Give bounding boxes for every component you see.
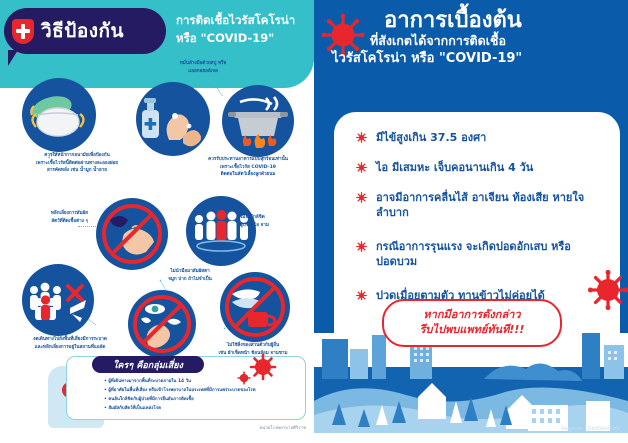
caption-line: งดเดินทางไปยังพื้นที่เสี่ยงมีการระบาด bbox=[0, 336, 140, 344]
badge-tail bbox=[8, 50, 18, 66]
caption-no-travel: งดเดินทางไปยังพื้นที่เสี่ยงมีการระบาด แล… bbox=[0, 336, 140, 351]
icon-circle-no-touch-animal bbox=[96, 198, 168, 270]
coronavirus-decor-icon bbox=[236, 370, 252, 386]
symptom-item: อาจมีอาการคลื่นไส้ อาเจียน ท้องเสีย หายใ… bbox=[356, 190, 606, 221]
warning-line2: รีบไปพบแพทย์ทันที!!! bbox=[420, 323, 525, 338]
prevention-panel: วิธีป้องกัน การติดเชื้อไวรัสโคโรน่า หรือ… bbox=[0, 0, 314, 443]
symptoms-header-line1: อาการเบื้องต้น bbox=[332, 8, 628, 33]
caption-line: เพราะเชื้อไวรัส COVID-19 bbox=[182, 164, 314, 172]
warning-box: หากมีอาการดังกล่าว รีบไปพบแพทย์ทันที!!! bbox=[382, 299, 562, 347]
virus-bullet-icon bbox=[356, 241, 367, 252]
caption-line: ติดต่อในสัตว์เลี้ยงลูกด้วยนม bbox=[182, 171, 314, 179]
caption-line: สารคัดหลั่ง เช่น น้ำมูก น้ำลาย bbox=[2, 167, 152, 175]
caption-line: สัตว์ที่ติดเชื้อต่าง ๆ bbox=[4, 218, 88, 226]
caption-line: ไม่ใช้สิ่งของส่วนตัวกับผู้อื่น bbox=[192, 342, 314, 350]
hand-wash-soap-icon bbox=[136, 82, 210, 156]
symptom-label: อาจมีอาการคลื่นไส้ อาเจียน ท้องเสีย หายใ… bbox=[376, 190, 606, 221]
caption-cooking-pot: ควรรับประทานอาหารแบบสุกร้อนเท่านั้น เพรา… bbox=[182, 156, 314, 179]
virus-bullet-icon bbox=[356, 162, 367, 173]
symptom-item: กรณีอาการรุนแรง จะเกิดปอดอักเสบ หรือปอดบ… bbox=[356, 239, 606, 270]
virus-bullet-icon bbox=[356, 132, 367, 143]
caption-line: หลีกเลี่ยงการสัมผัส bbox=[4, 210, 88, 218]
shield-cross-icon bbox=[12, 19, 34, 44]
caption-line: หมั่นล้างมือด้วยสบู่ หรือ bbox=[148, 60, 258, 68]
virus-bullet-icon bbox=[356, 192, 367, 203]
risk-item: • สัมผัสกับสัตว์ที่เป็นแหล่งโรค bbox=[104, 404, 300, 413]
caption-line: ไม่อยู่ใกล้ชิด bbox=[240, 214, 314, 222]
symptom-label: กรณีอาการรุนแรง จะเกิดปอดอักเสบ หรือปอดบ… bbox=[376, 239, 606, 270]
caption-line: และหลีกเลี่ยงการอยู่ในสถานที่แออัด bbox=[0, 344, 140, 352]
risk-item-label: สัมผัสกับสัตว์ที่เป็นแหล่งโรค bbox=[108, 406, 161, 411]
face-mask-icon bbox=[22, 78, 96, 152]
icon-circle-cooking-pot bbox=[222, 85, 294, 157]
risk-item: • คนอันใกล้ชิดกับผู้ป่วยที่มีการยืนยันกา… bbox=[104, 395, 300, 404]
symptom-label: มีไข้สูงเกิน 37.5 องศา bbox=[376, 130, 486, 145]
icon-circle-hand-wash bbox=[136, 82, 210, 156]
infographic-poster: วิธีป้องกัน การติดเชื้อไวรัสโคโรน่า หรือ… bbox=[0, 0, 628, 443]
caption-face-mask: ควรใส่หน้ากากอนามัยเพื่อป้องกัน เพราะเชื… bbox=[2, 152, 152, 175]
caption-line: แอลกอฮอล์เจล bbox=[148, 68, 258, 76]
symptom-label: ไอ มีเสมหะ เจ็บคอนานเกิน 4 วัน bbox=[376, 160, 533, 175]
icon-circle-no-share-utensils bbox=[220, 272, 290, 342]
caption-line: เพราะเชื้อไวรัสนี้ติดต่อผ่านทางละอองฝอย bbox=[2, 160, 152, 168]
left-header-line2: หรือ "COVID-19" bbox=[176, 30, 314, 48]
risk-item: • ผู้ที่อาศัยในพื้นที่เสี่ยง หรือเข้าโรง… bbox=[104, 386, 300, 395]
warning-line1: หากมีอาการดังกล่าว bbox=[423, 308, 520, 323]
right-credit: ข้อมูลจาก : GedGoodLife bbox=[561, 425, 620, 433]
no-crowd-patient-icon bbox=[186, 196, 256, 266]
symptoms-header: อาการเบื้องต้น ที่สังเกตได้จากการติดเชื้… bbox=[314, 8, 628, 68]
icon-circle-no-crowd-patient bbox=[186, 196, 256, 266]
prohibition-overlay bbox=[102, 204, 162, 264]
caption-line: ควรใส่หน้ากากอนามัยเพื่อป้องกัน bbox=[2, 152, 152, 160]
caption-no-touch-animal: หลีกเลี่ยงการสัมผัส สัตว์ที่ติดเชื้อต่าง… bbox=[4, 210, 88, 225]
icon-circle-no-travel bbox=[22, 264, 94, 336]
caption-line: ผู้ป่วยที่ไอ จาม bbox=[240, 222, 314, 230]
left-header-line1: การติดเชื้อไวรัสโคโรน่า bbox=[176, 12, 314, 30]
symptom-item: ไอ มีเสมหะ เจ็บคอนานเกิน 4 วัน bbox=[356, 160, 612, 175]
caption-no-crowd-patient: ไม่อยู่ใกล้ชิด ผู้ป่วยที่ไอ จาม bbox=[240, 214, 314, 229]
coronavirus-accent-icon bbox=[586, 268, 628, 312]
prevention-badge-label: วิธีป้องกัน bbox=[41, 22, 124, 41]
caption-line: ควรรับประทานอาหารแบบสุกร้อนเท่านั้น bbox=[182, 156, 314, 164]
symptom-item: มีไข้สูงเกิน 37.5 องศา bbox=[356, 130, 608, 145]
risk-group-list: • ผู้ที่เดินทางมาจากพื้นที่ระบาดภายใน 14… bbox=[104, 377, 300, 413]
risk-item-label: ผู้ที่เดินทางมาจากพื้นที่ระบาดภายใน 14 ว… bbox=[108, 379, 191, 384]
prevention-badge: วิธีป้องกัน bbox=[4, 8, 166, 54]
prohibition-overlay bbox=[225, 277, 285, 337]
symptoms-header-line3: ไวรัสโคโรน่า หรือ "COVID-19" bbox=[332, 50, 628, 68]
no-travel-outbreak-icon bbox=[22, 264, 94, 336]
coronavirus-decor-icon bbox=[248, 352, 278, 382]
symptoms-panel: อาการเบื้องต้น ที่สังเกตได้จากการติดเชื้… bbox=[314, 0, 628, 443]
risk-item-label: ผู้ที่อาศัยในพื้นที่เสี่ยง หรือเข้าโรงพย… bbox=[108, 388, 255, 393]
risk-group-title: ใครๆ คือกลุ่มเสี่ยง bbox=[92, 356, 204, 373]
icon-circle-face-mask bbox=[22, 78, 96, 152]
risk-item-label: คนอันใกล้ชิดกับผู้ป่วยที่มีการยืนยันการต… bbox=[108, 397, 193, 402]
left-credit: หน่วยโรงพยาบาลศิริราช bbox=[259, 424, 306, 431]
caption-hand-wash: หมั่นล้างมือด้วยสบู่ หรือ แอลกอฮอล์เจล bbox=[148, 60, 258, 75]
cooking-pot-icon bbox=[222, 85, 294, 157]
left-header-text: การติดเชื้อไวรัสโคโรน่า หรือ "COVID-19" bbox=[176, 12, 314, 48]
symptoms-card: มีไข้สูงเกิน 37.5 องศา ไอ มีเสมหะ เจ็บคอ… bbox=[334, 112, 620, 326]
prohibition-overlay bbox=[133, 295, 191, 353]
symptoms-header-line2: ที่สังเกตได้จากการติดเชื้อ bbox=[332, 33, 628, 50]
